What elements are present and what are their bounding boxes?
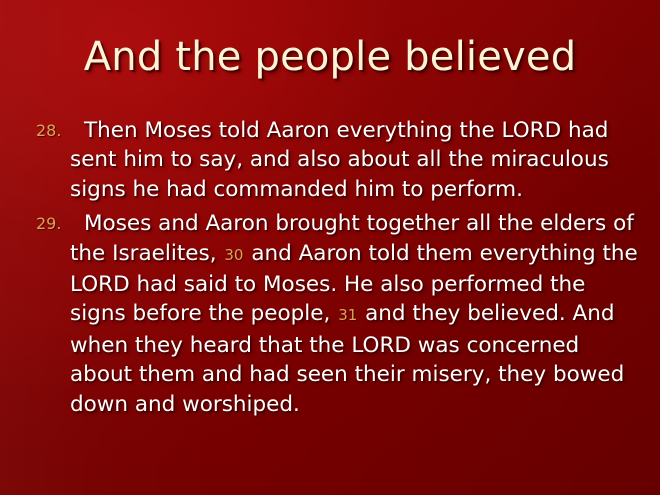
list-item: 28.Then Moses told Aaron everything the … [30,116,640,204]
verse-number-30: 30 [223,246,244,264]
slide-body: 28.Then Moses told Aaron everything the … [30,116,640,424]
verse-number-31: 31 [337,306,358,324]
verse-number-28: 28. [36,118,61,144]
presentation-slide: And the people believed 28.Then Moses to… [0,0,660,495]
verse-number-29: 29. [36,211,61,237]
paragraph-28-text: Then Moses told Aaron everything the LOR… [70,118,609,202]
list-item: 29.Moses and Aaron brought together all … [30,209,640,419]
slide-title: And the people believed [0,34,660,80]
